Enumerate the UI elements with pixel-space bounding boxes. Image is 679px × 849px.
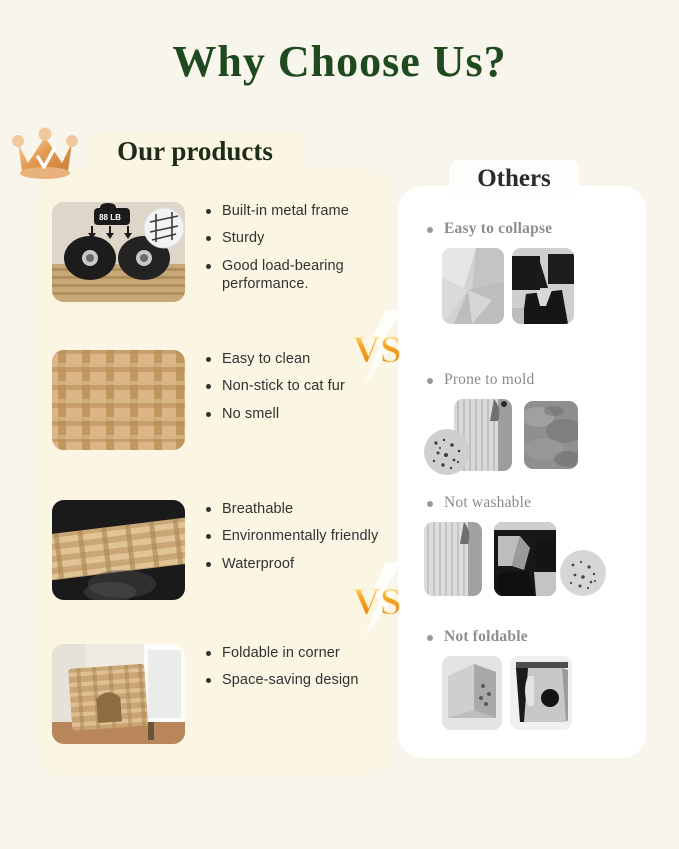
others-row-2-label: Prone to mold — [424, 371, 634, 389]
product-metal-frame-image: 88 LB — [52, 202, 185, 302]
our-products-heading: Our products — [86, 131, 304, 171]
others-collapsed-fabric-image — [442, 248, 504, 324]
our-row-1-bullets: Built-in metal frame Sturdy Good load-be… — [204, 202, 384, 302]
others-row-4: Not foldable — [424, 628, 634, 734]
others-rigid-box-open-image — [510, 656, 572, 730]
product-woven-weave-image — [52, 350, 185, 450]
others-row-1-label: Easy to collapse — [424, 220, 634, 238]
others-row-4-label: Not foldable — [424, 628, 634, 646]
our-row-4-bullets: Foldable in corner Space-saving design — [204, 644, 384, 699]
others-stain-closeup-circle — [560, 550, 606, 596]
crown-icon — [8, 119, 82, 181]
bullet-item: Environmentally friendly — [204, 527, 384, 545]
others-heading: Others — [449, 160, 579, 198]
others-dark-collapsed-image — [512, 248, 574, 324]
bullet-item: Breathable — [204, 500, 384, 518]
others-mold-closeup-circle — [424, 429, 470, 475]
bullet-item: Good load-bearing performance. — [204, 257, 384, 294]
others-dark-box-image — [494, 522, 556, 596]
others-row-2: Prone to mold — [424, 371, 634, 477]
others-row-3-images — [424, 522, 634, 600]
others-row-1: Easy to collapse — [424, 220, 634, 326]
others-row-4-images — [424, 656, 634, 734]
others-ribbed-box-image — [424, 522, 482, 596]
others-row-3-label: Not washable — [424, 494, 634, 512]
others-rigid-box-image — [442, 656, 502, 730]
infographic-page: Why Choose Us? Our products Others — [0, 0, 679, 849]
others-mold-texture-image — [524, 401, 578, 469]
vs-badge: VS — [346, 562, 412, 638]
others-row-3: Not washable — [424, 494, 634, 600]
bullet-item: No smell — [204, 405, 384, 423]
svg-text:VS: VS — [353, 329, 402, 371]
svg-text:VS: VS — [353, 581, 402, 623]
bullet-item: Foldable in corner — [204, 644, 384, 662]
others-row-2-images — [424, 399, 634, 477]
bullet-item: Sturdy — [204, 229, 384, 247]
product-foldable-corner-image — [52, 644, 185, 744]
vs-badge: VS — [346, 310, 412, 386]
product-breathable-weave-image — [52, 500, 185, 600]
svg-text:88 LB: 88 LB — [99, 213, 121, 222]
bullet-item: Space-saving design — [204, 671, 384, 689]
bullet-item: Built-in metal frame — [204, 202, 384, 220]
others-row-1-images — [424, 248, 634, 326]
page-title: Why Choose Us? — [0, 36, 679, 87]
